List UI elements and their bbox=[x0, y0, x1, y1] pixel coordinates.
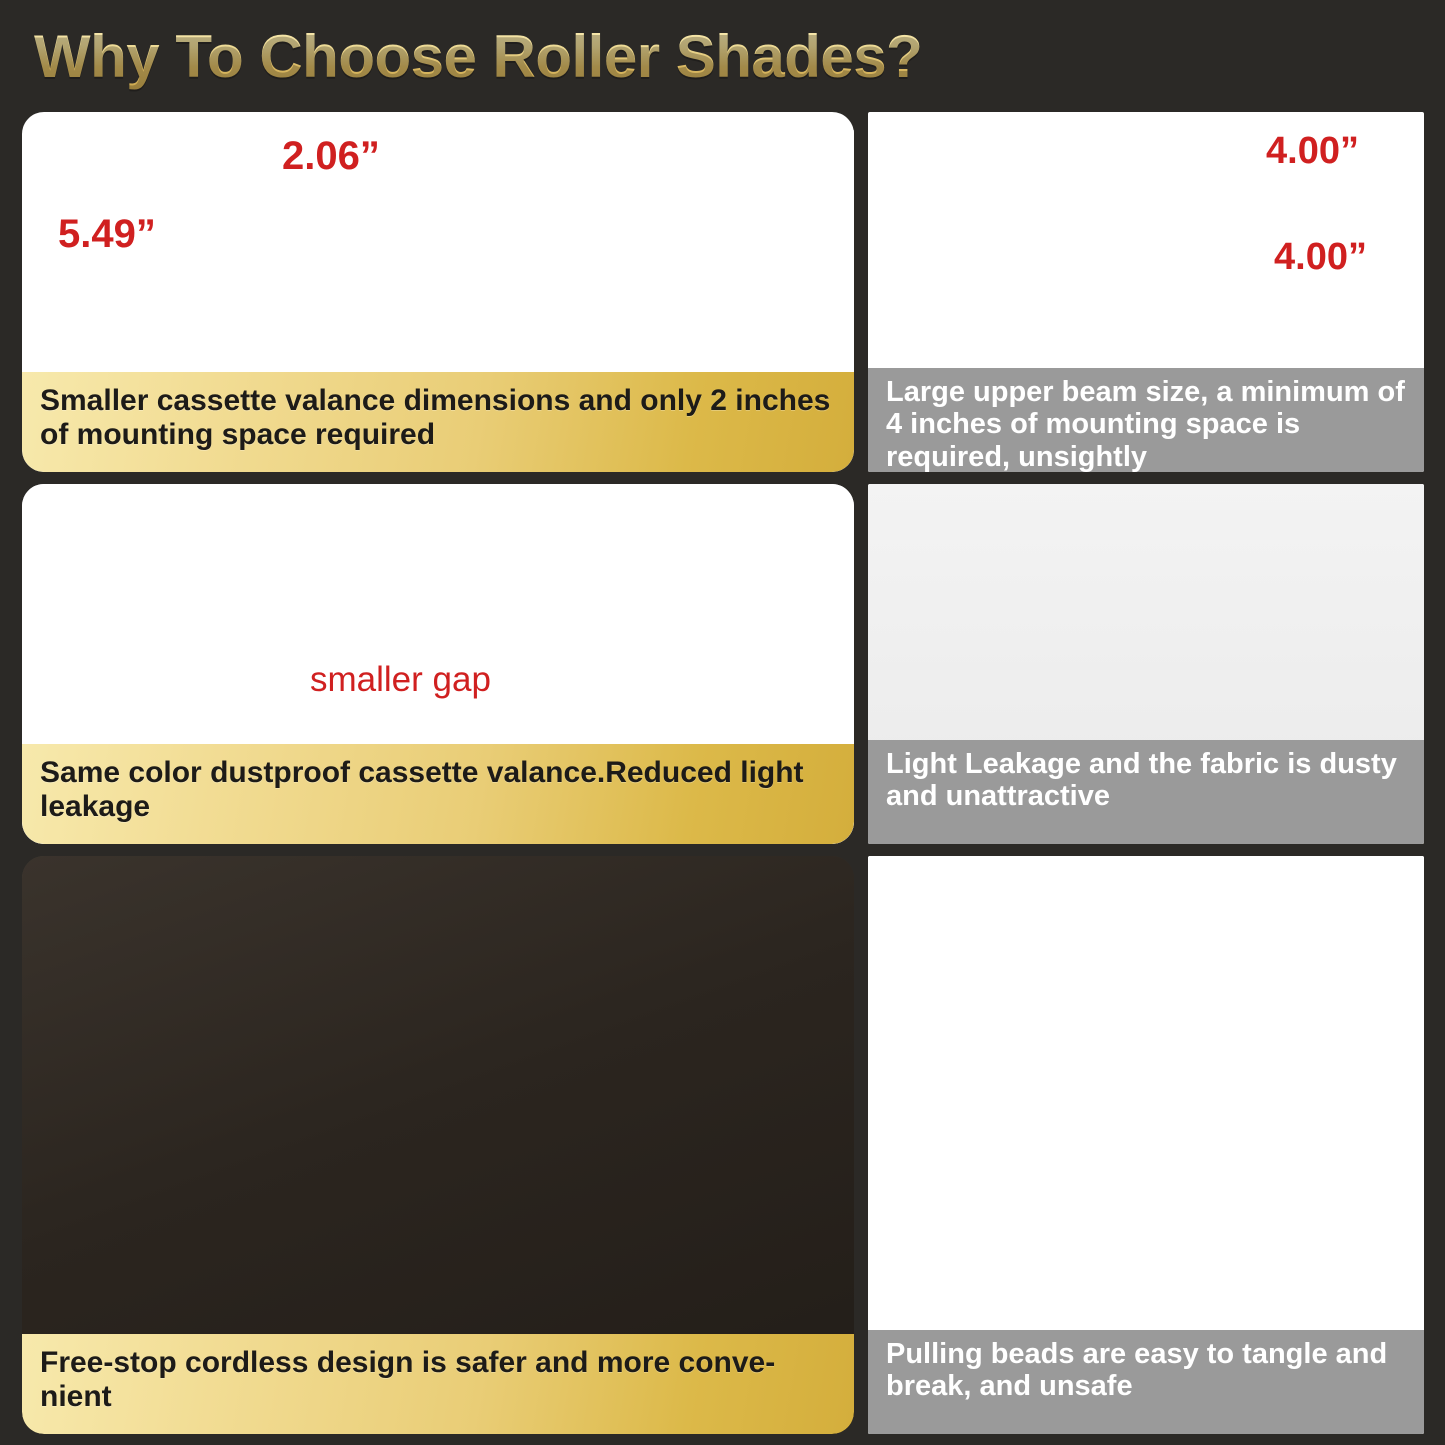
dimension-label-height: 4.00” bbox=[1274, 236, 1367, 279]
dimension-label-width: 2.06” bbox=[282, 134, 380, 179]
caption-row3-left: Free-stop cordless design is safer and m… bbox=[22, 1334, 854, 1434]
comparison-grid: 2.06” 5.49” Smaller cassette valance dim… bbox=[0, 104, 1445, 1445]
panel-row2-right: Large gap Light Leakage and the fabric i… bbox=[868, 484, 1424, 844]
panel-row3-left: Free-stop cordless design is safer and m… bbox=[22, 856, 854, 1434]
dimension-label-height: 5.49” bbox=[58, 212, 156, 257]
caption-row1-left: Smaller cassette valance dimensions and … bbox=[22, 372, 854, 472]
caption-row1-right: Large upper beam size, a minimum of 4 in… bbox=[868, 368, 1424, 472]
panel-row1-left: 2.06” 5.49” Smaller cassette valance dim… bbox=[22, 112, 854, 472]
panel-row2-left: smaller gap Same color dustproof cassett… bbox=[22, 484, 854, 844]
header: Why To Choose Roller Shades? bbox=[0, 0, 1445, 100]
page-title: Why To Choose Roller Shades? bbox=[34, 22, 922, 91]
caption-row3-right: Pulling beads are easy to tangle and bre… bbox=[868, 1330, 1424, 1434]
gap-callout-label: smaller gap bbox=[310, 660, 491, 700]
caption-row2-right: Light Leakage and the fabric is dusty an… bbox=[868, 740, 1424, 844]
dimension-label-width: 4.00” bbox=[1266, 130, 1359, 173]
caption-row2-left: Same color dustproof cassette valance.Re… bbox=[22, 744, 854, 844]
panel-row3-right: Pulling beads are easy to tangle and bre… bbox=[868, 856, 1424, 1434]
infographic-page: Why To Choose Roller Shades? bbox=[0, 0, 1445, 1445]
panel-row1-right: 4.00” 4.00” Large upper beam size, a min… bbox=[868, 112, 1424, 472]
